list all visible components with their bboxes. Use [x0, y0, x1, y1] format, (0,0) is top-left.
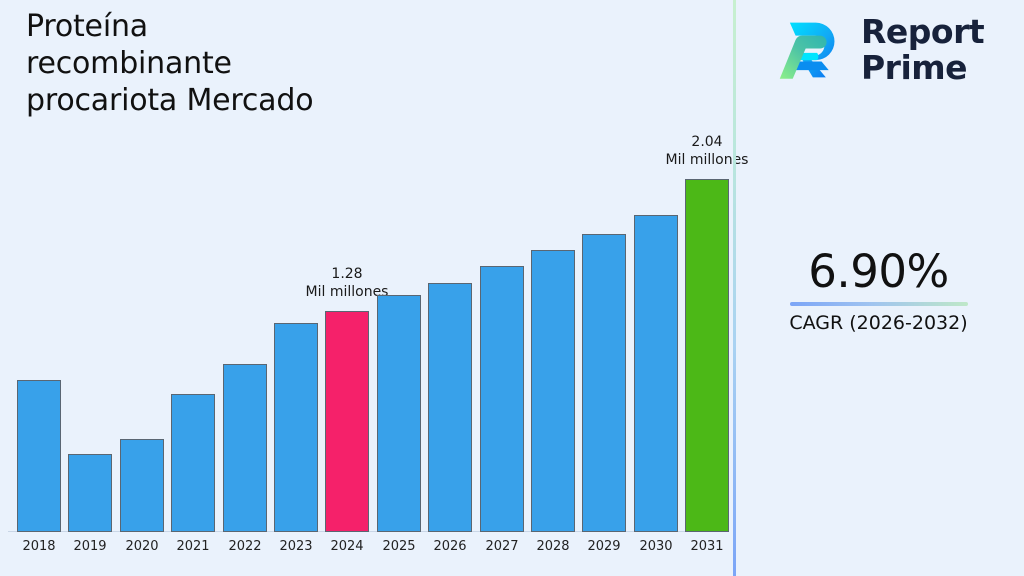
x-tick-label-2019: 2019 [64, 539, 116, 554]
x-tick-label-2031: 2031 [681, 539, 733, 554]
x-tick-label-2024: 2024 [321, 539, 373, 554]
x-tick-label-2027: 2027 [476, 539, 528, 554]
x-tick-label-2030: 2030 [630, 539, 682, 554]
cagr-divider-rule [790, 302, 968, 306]
x-tick-label-2018: 2018 [13, 539, 65, 554]
infographic-root: Proteína recombinante procariota Mercado… [0, 0, 1024, 576]
brand-name: Report Prime [861, 14, 984, 85]
bar-2031 [685, 179, 729, 532]
x-tick-label-2023: 2023 [270, 539, 322, 554]
bar-2026 [428, 283, 472, 532]
cagr-block: 6.90% CAGR (2026-2032) [733, 248, 1024, 334]
info-panel: Report Prime 6.90% CAGR (2026-2032) [733, 0, 1024, 576]
x-tick-label-2029: 2029 [578, 539, 630, 554]
chart-panel: Proteína recombinante procariota Mercado… [0, 0, 733, 576]
x-tick-label-2022: 2022 [219, 539, 271, 554]
x-tick-label-2021: 2021 [167, 539, 219, 554]
x-tick-label-2028: 2028 [527, 539, 579, 554]
bar-chart-plot-area: 20182019202020212022202320241.28 Mil mil… [0, 0, 733, 576]
bar-2027 [480, 266, 524, 532]
x-tick-label-2025: 2025 [373, 539, 425, 554]
brand-logo: Report Prime [773, 14, 984, 86]
bar-2024 [325, 311, 369, 532]
cagr-value: 6.90% [733, 248, 1024, 295]
bar-2025 [377, 295, 421, 532]
bar-2023 [274, 323, 318, 532]
bar-2021 [171, 394, 215, 532]
x-tick-label-2026: 2026 [424, 539, 476, 554]
bar-2028 [531, 250, 575, 532]
bar-2018 [17, 380, 61, 532]
cagr-caption: CAGR (2026-2032) [733, 312, 1024, 334]
x-tick-label-2020: 2020 [116, 539, 168, 554]
bar-2030 [634, 215, 678, 532]
bar-2029 [582, 234, 626, 532]
bar-2020 [120, 439, 164, 532]
bar-2019 [68, 454, 112, 532]
bar-2022 [223, 364, 267, 532]
report-prime-logo-icon [773, 14, 847, 86]
